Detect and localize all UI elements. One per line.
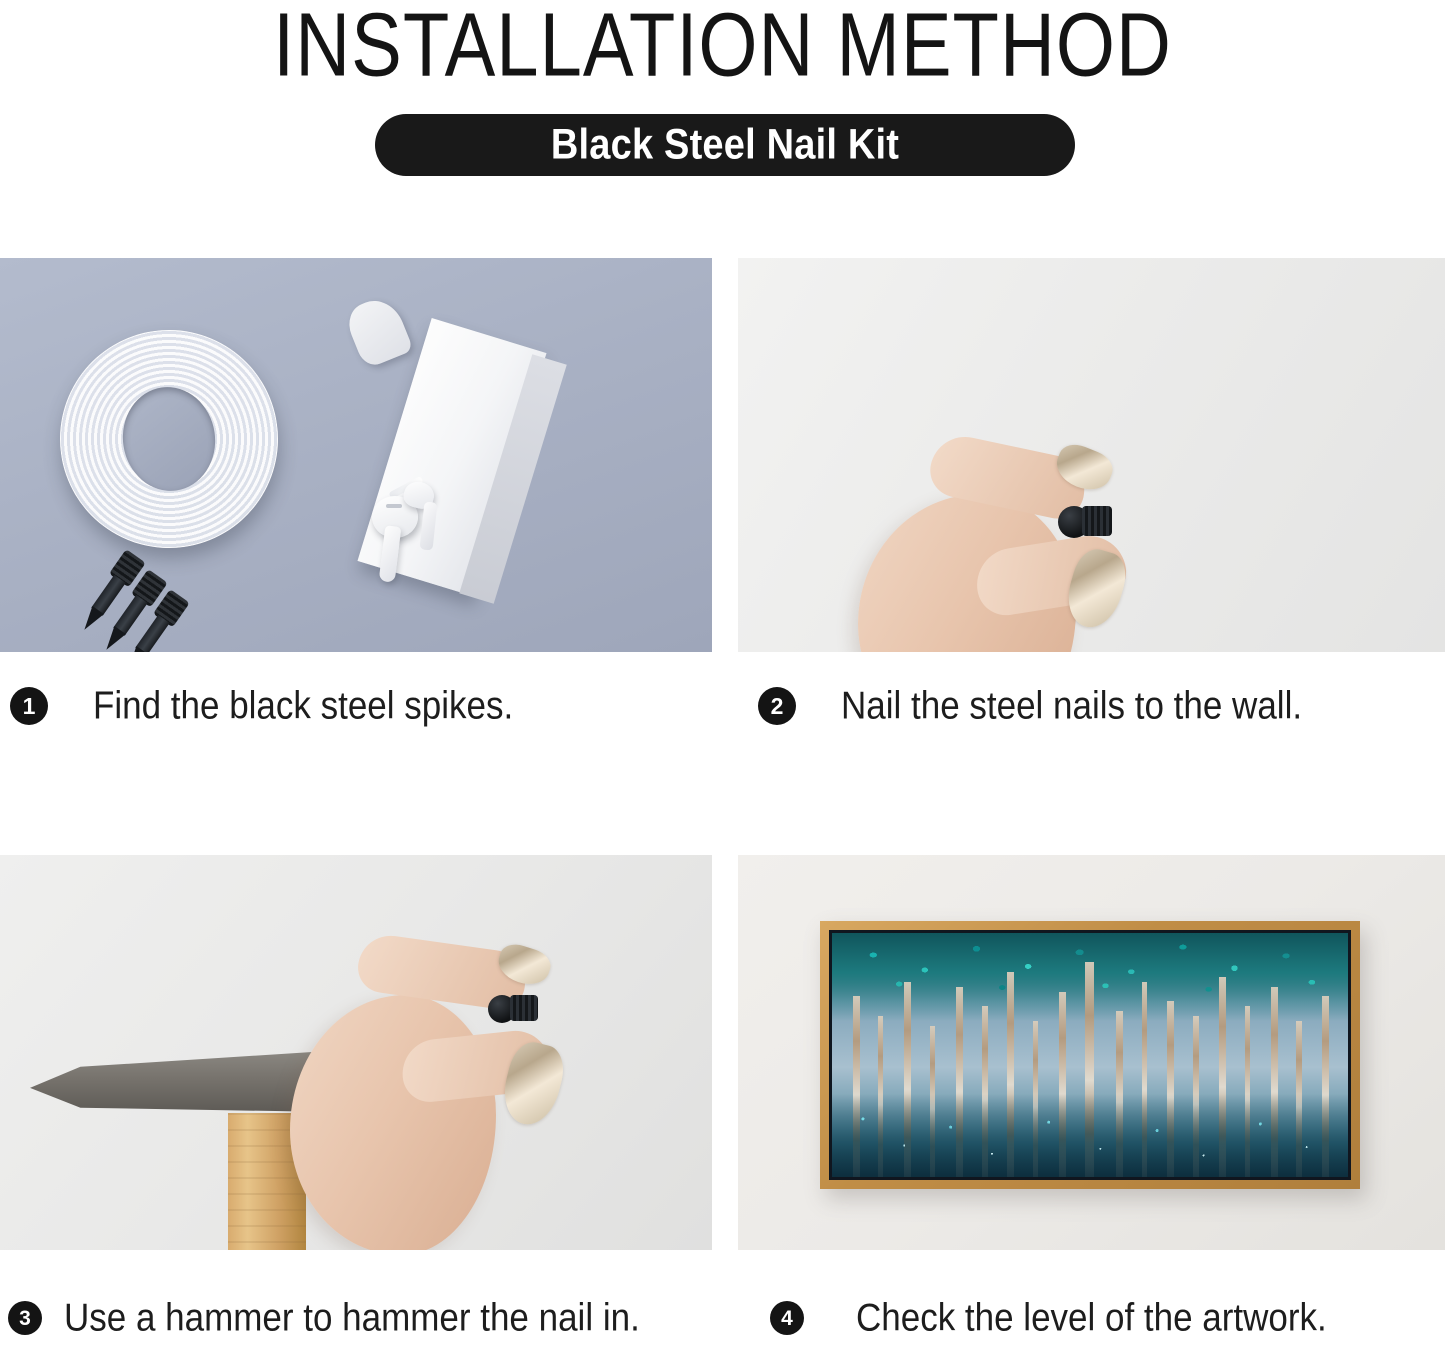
steel-nail-collar: [1082, 506, 1112, 536]
step-4-caption-row: 4 Check the level of the artwork.: [770, 1298, 1327, 1338]
step-3-caption: Use a hammer to hammer the nail in.: [64, 1296, 640, 1341]
steel-nail-collar: [510, 995, 538, 1021]
step-4-image: [738, 855, 1445, 1250]
step-4-number-badge: 4: [770, 1301, 804, 1335]
step-3-image: [0, 855, 712, 1250]
step-1-caption-row: 1 Find the black steel spikes.: [10, 686, 513, 726]
subtitle-label: Black Steel Nail Kit: [551, 121, 899, 169]
step-2-caption-row: 2 Nail the steel nails to the wall.: [758, 686, 1302, 726]
step-3-number-badge: 3: [8, 1301, 42, 1335]
step-2-image: [738, 258, 1445, 652]
step-3-caption-row: 3 Use a hammer to hammer the nail in.: [8, 1298, 640, 1338]
framed-artwork: [820, 921, 1360, 1189]
tape-roll-hole: [116, 381, 222, 497]
step-1-caption: Find the black steel spikes.: [93, 684, 513, 729]
artwork-canvas: [829, 930, 1351, 1180]
subtitle-badge: Black Steel Nail Kit: [375, 114, 1075, 176]
header: INSTALLATION METHOD Black Steel Nail Kit: [0, 0, 1445, 200]
page-title: INSTALLATION METHOD: [0, 0, 1445, 97]
step-2-number-badge: 2: [758, 687, 796, 725]
step-4-caption: Check the level of the artwork.: [856, 1296, 1327, 1341]
step-1-number-badge: 1: [10, 687, 48, 725]
artwork-undergrowth: [832, 1094, 1348, 1177]
step-2-caption: Nail the steel nails to the wall.: [841, 684, 1302, 729]
step-1-image: [0, 258, 712, 652]
